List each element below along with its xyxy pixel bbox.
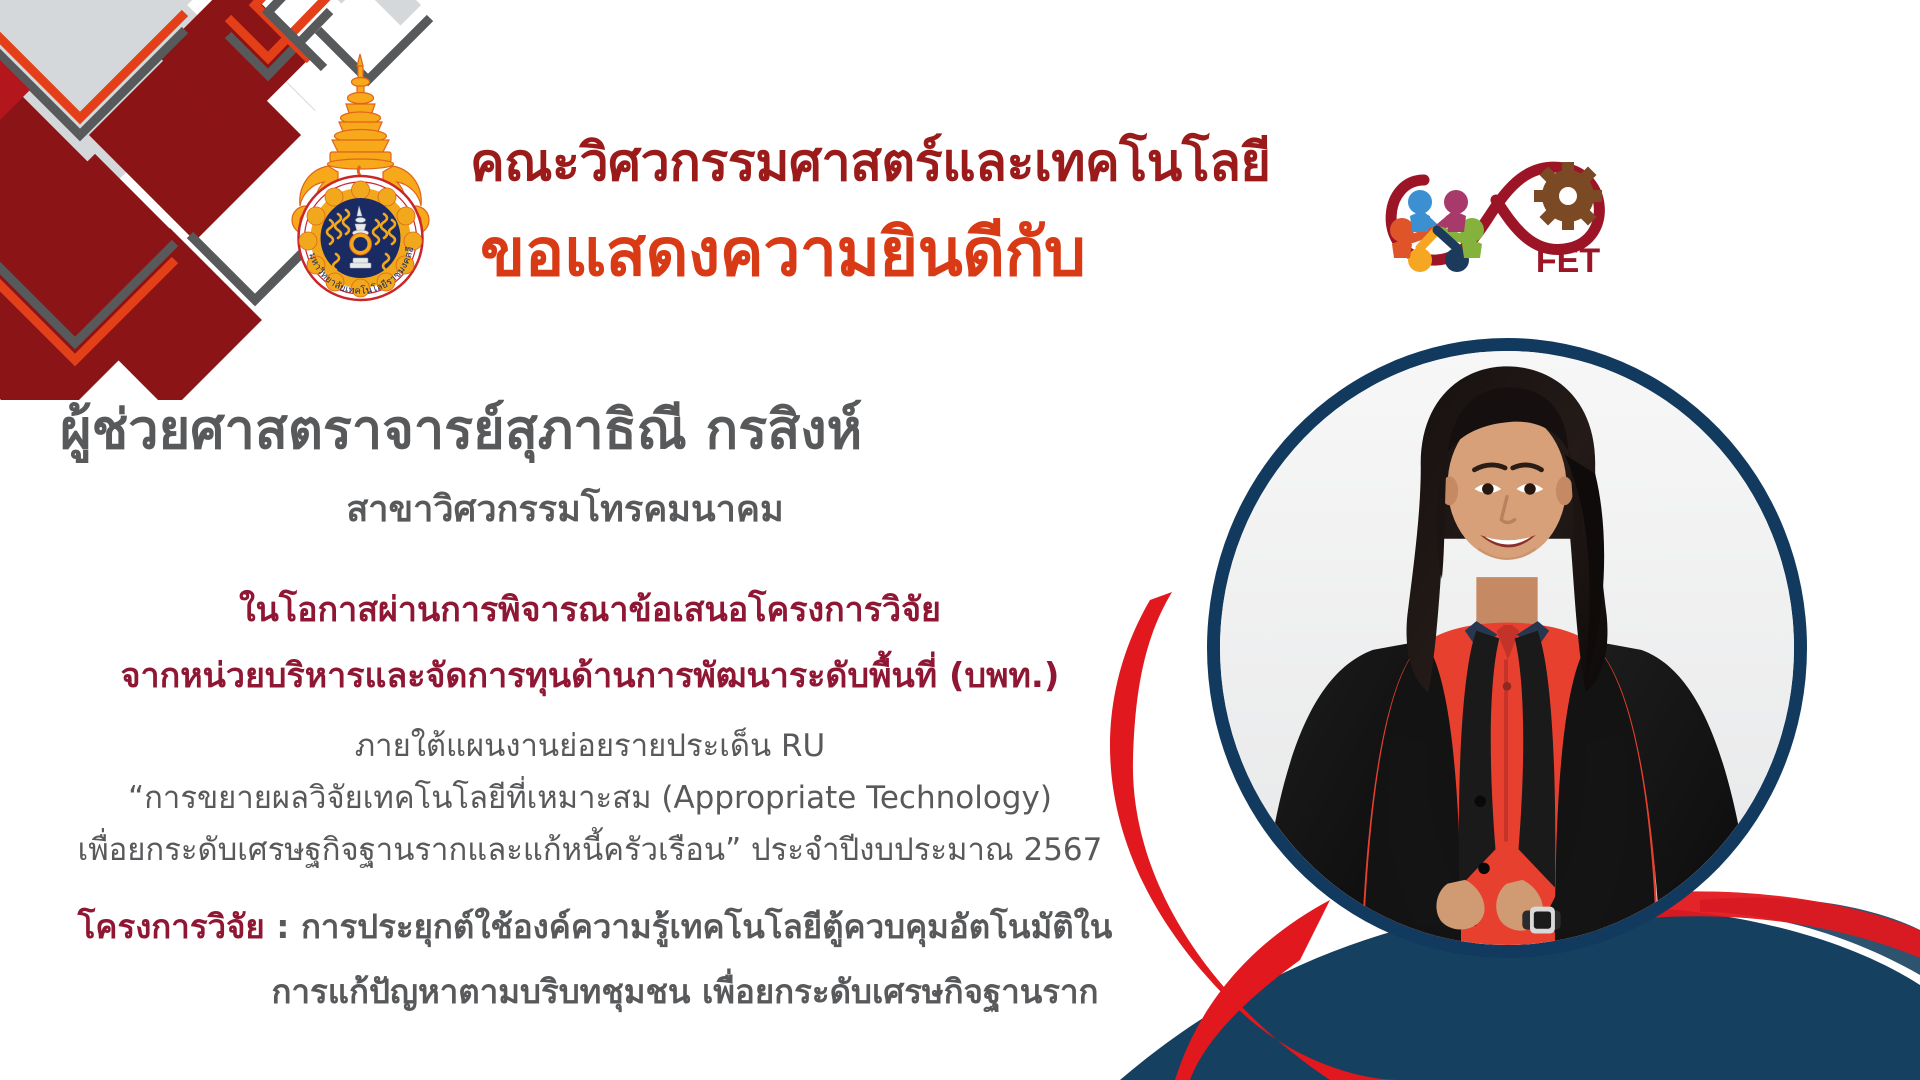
body-line-2: จากหน่วยบริหารและจัดการทุนด้านการพัฒนาระ… [20,648,1160,702]
body-line-5: เพื่อยกระดับเศรษฐกิจฐานรากและแก้หนี้ครัว… [20,824,1160,874]
project-line-1: โครงการวิจัย : การประยุกต์ใช้องค์ความรู้… [30,900,1160,953]
rmuti-emblem-svg: มหาวิทยาลัยเทคโนโลยีราชมงคลอีสาน [268,48,453,313]
honoree-portrait [1207,338,1807,958]
project-separator: : [265,907,301,946]
rmuti-university-emblem: มหาวิทยาลัยเทคโนโลยีราชมงคลอีสาน [268,48,453,313]
honoree-name: ผู้ช่วยศาสตราจารย์สุภาธิณี กรสิงห์ [60,386,1120,472]
portrait-illustration [1220,351,1794,945]
body-line-3: ภายใต้แผนงานย่อยรายประเด็น RU [20,720,1160,770]
project-label: โครงการวิจัย [78,907,265,946]
honoree-department: สาขาวิศวกรรมโทรคมนาคม [60,480,1070,537]
portrait-circle-frame [1207,338,1807,958]
congratulation-poster: มหาวิทยาลัยเทคโนโลยีราชมงคลอีสาน คณะวิศว… [0,0,1920,1080]
portrait-photo [1220,351,1794,945]
body-line-4: “การขยายผลวิจัยเทคโนโลยีที่เหมาะสม (Appr… [20,772,1160,822]
body-line-1: ในโอกาสผ่านการพิจารณาข้อเสนอโครงการวิจัย [20,582,1160,636]
project-title-line-1: การประยุกต์ใช้องค์ความรู้เทคโนโลยีตู้ควบ… [301,907,1112,946]
